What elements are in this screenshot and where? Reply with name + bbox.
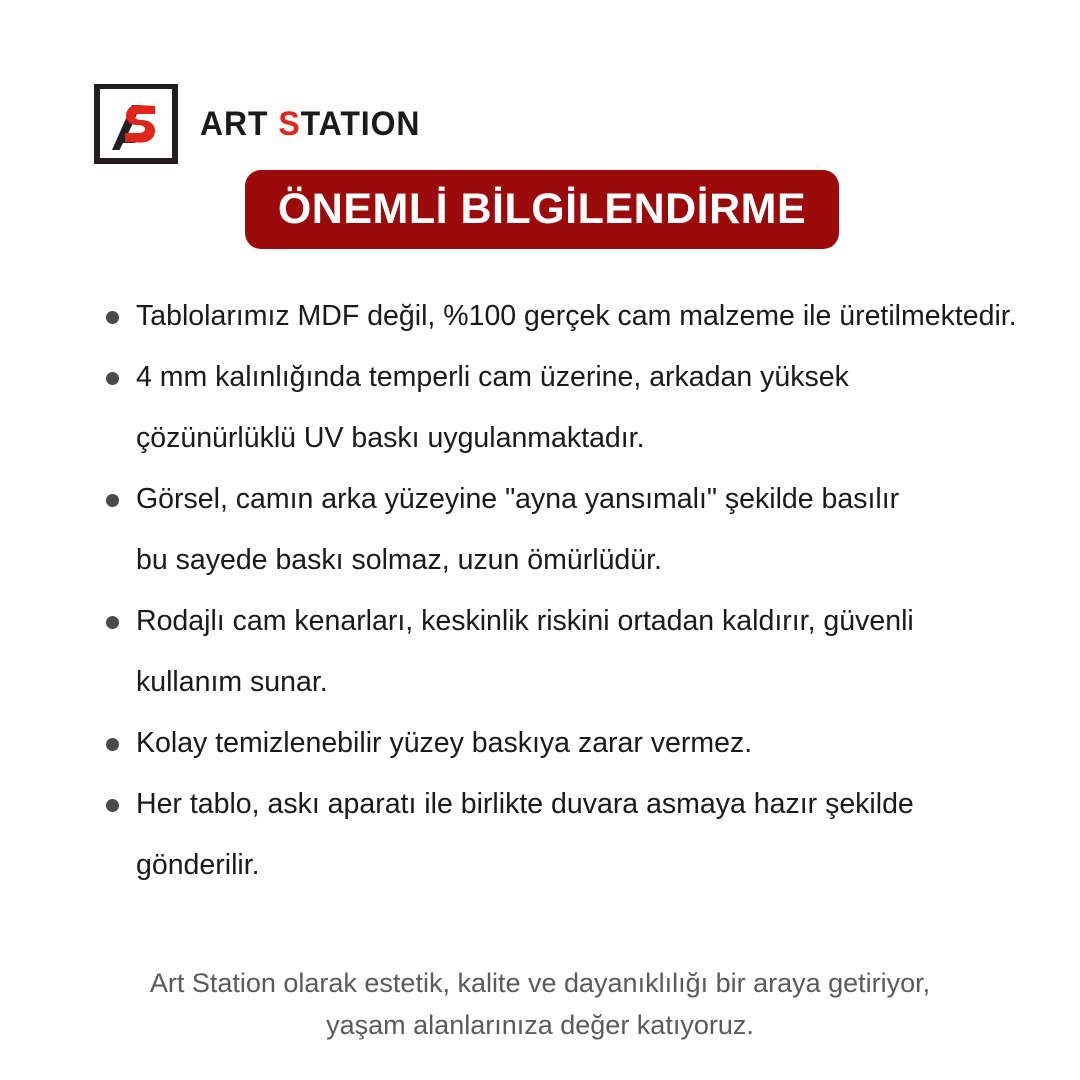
list-item: Her tablo, askı aparatı ile birlikte duv…	[100, 774, 1040, 896]
brand-wordmark: ART STATION	[200, 107, 420, 141]
wordmark-part1: ART	[200, 105, 278, 143]
list-item: Rodajlı cam kenarları, keskinlik riskini…	[100, 591, 1040, 713]
list-item: 4 mm kalınlığında temperli cam üzerine, …	[100, 347, 1040, 469]
footer-slogan: Art Station olarak estetik, kalite ve da…	[0, 962, 1080, 1046]
banner-title: ÖNEMLİ BİLGİLENDİRME	[278, 188, 806, 231]
important-notice-banner: ÖNEMLİ BİLGİLENDİRME	[245, 170, 839, 249]
list-item: Görsel, camın arka yüzeyine "ayna yansım…	[100, 469, 1040, 591]
art-station-as-monogram-icon	[94, 84, 178, 164]
brand-header[interactable]: ART STATION	[94, 84, 435, 164]
feature-bullet-list: Tablolarımız MDF değil, %100 gerçek cam …	[100, 286, 1040, 896]
wordmark-part2: TATION	[301, 105, 421, 143]
infographic-page: ART STATION ÖNEMLİ BİLGİLENDİRME Tablola…	[0, 0, 1080, 1080]
list-item: Tablolarımız MDF değil, %100 gerçek cam …	[100, 286, 1040, 347]
list-item: Kolay temizlenebilir yüzey baskıya zarar…	[100, 713, 1040, 774]
wordmark-accent-letter: S	[278, 105, 300, 143]
